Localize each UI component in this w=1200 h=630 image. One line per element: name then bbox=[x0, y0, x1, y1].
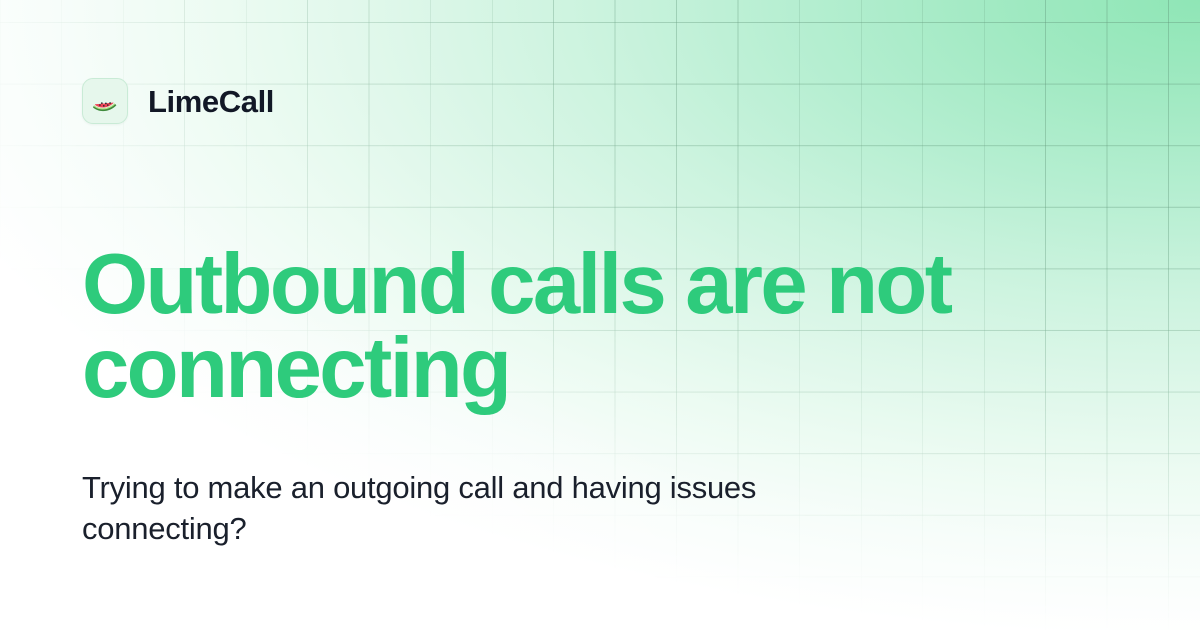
page-title: Outbound calls are not connecting bbox=[82, 243, 1042, 411]
og-card: LimeCall Outbound calls are not connecti… bbox=[0, 0, 1200, 630]
brand-logo-badge bbox=[82, 78, 128, 124]
card-content: LimeCall Outbound calls are not connecti… bbox=[0, 0, 1200, 630]
brand-name: LimeCall bbox=[148, 86, 274, 117]
page-subtitle: Trying to make an outgoing call and havi… bbox=[82, 468, 802, 550]
watermelon-slice-icon bbox=[91, 87, 119, 115]
brand-lockup[interactable]: LimeCall bbox=[82, 78, 274, 124]
